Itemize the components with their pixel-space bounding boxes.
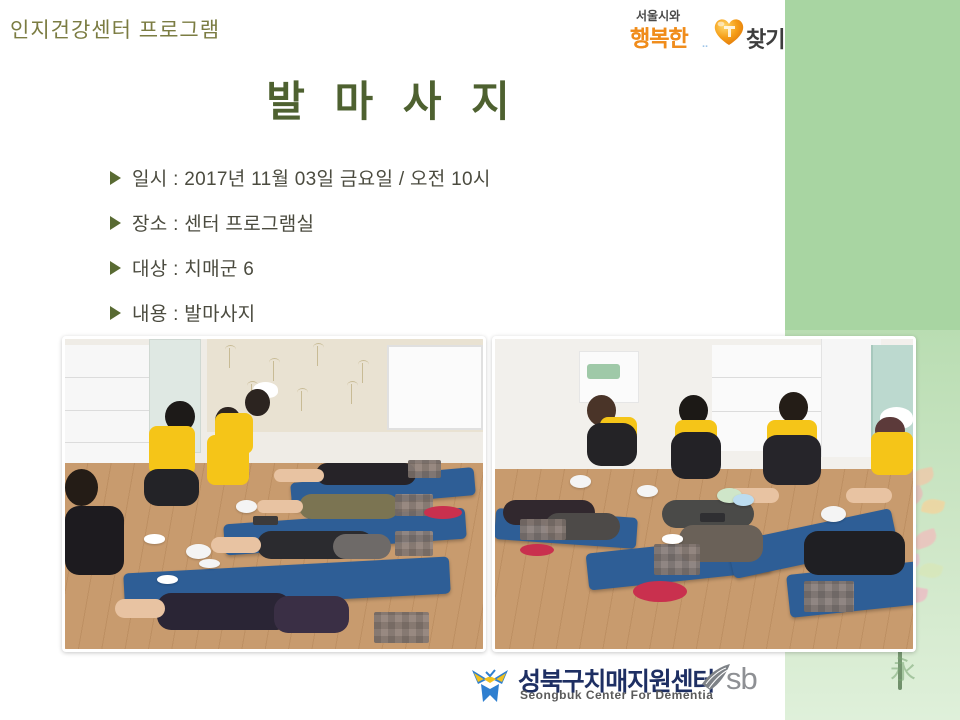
slide-canvas: 永 인지건강센터 프로그램 발 마 사 지 서울시와 행복한 .. 찾기 일시 … — [0, 0, 960, 720]
triangle-bullet-icon — [110, 261, 121, 275]
photo-left — [62, 336, 486, 652]
bullet-label: 내용 : 발마사지 — [132, 299, 255, 326]
seongbuk-center-logo: 성북구치매지원센터 Seongbuk Center For Dementia s… — [468, 660, 768, 710]
sb-mark-text: sb — [726, 661, 757, 697]
logo-dots: .. — [702, 38, 708, 50]
green-decoration-panel — [785, 0, 960, 330]
bullet-label: 장소 : 센터 프로그램실 — [132, 209, 314, 236]
info-bullet-list: 일시 : 2017년 11월 03일 금요일 / 오전 10시 장소 : 센터 … — [110, 155, 730, 335]
bullet-label: 일시 : 2017년 11월 03일 금요일 / 오전 10시 — [132, 164, 491, 191]
photo-left-reflection — [62, 649, 486, 711]
triangle-bullet-icon — [110, 306, 121, 320]
sb-person-icon — [468, 664, 512, 706]
logo-happy-text: 행복한 — [630, 21, 688, 53]
seoul-happy-logo: 서울시와 행복한 .. 찾기 — [628, 6, 783, 54]
photo-right — [492, 336, 916, 652]
logo-find-text: 찾기 — [746, 22, 784, 54]
list-item: 대상 : 치매군 6 — [110, 245, 730, 290]
bullet-label: 대상 : 치매군 6 — [132, 254, 254, 281]
list-item: 내용 : 발마사지 — [110, 290, 730, 335]
program-header-label: 인지건강센터 프로그램 — [10, 14, 220, 44]
triangle-bullet-icon — [110, 171, 121, 185]
list-item: 장소 : 센터 프로그램실 — [110, 200, 730, 245]
center-subtitle-label: Seongbuk Center For Dementia — [520, 688, 713, 702]
page-title: 발 마 사 지 — [0, 68, 785, 129]
triangle-bullet-icon — [110, 216, 121, 230]
list-item: 일시 : 2017년 11월 03일 금요일 / 오전 10시 — [110, 155, 730, 200]
orange-heart-icon — [712, 16, 746, 46]
